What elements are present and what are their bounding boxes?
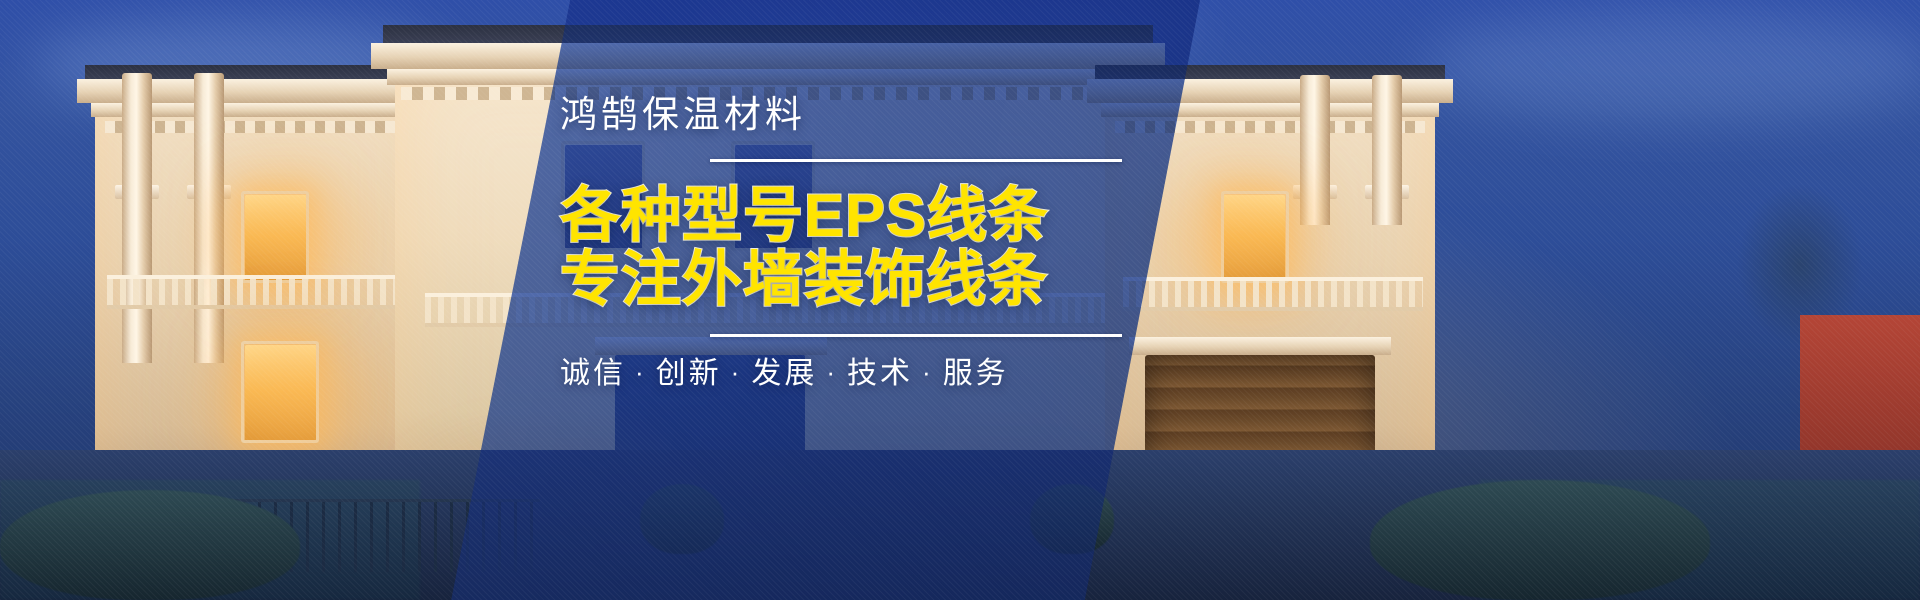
divider-top: [710, 159, 1122, 162]
headline-line-1: 各种型号EPS线条: [560, 184, 1030, 248]
column: [1300, 75, 1330, 225]
divider-bottom: [710, 334, 1122, 337]
tagline-separator: ·: [635, 357, 647, 387]
tagline-item: 诚信: [560, 357, 626, 390]
tagline-item: 技术: [847, 357, 913, 390]
banner-subtitle: 鸿鹄保温材料: [560, 96, 1030, 133]
shrub: [1370, 480, 1710, 600]
tagline-separator: ·: [826, 357, 838, 387]
tagline-item: 创新: [656, 357, 722, 390]
banner-headline: 各种型号EPS线条 专注外墙装饰线条: [560, 184, 1030, 312]
banner-stage: 鸿鹄保温材料 各种型号EPS线条 专注外墙装饰线条 诚信·创新·发展·技术·服务: [0, 0, 1920, 600]
balustrade: [1123, 277, 1423, 311]
banner-copy: 鸿鹄保温材料 各种型号EPS线条 专注外墙装饰线条 诚信·创新·发展·技术·服务: [560, 96, 1030, 389]
banner-tagline: 诚信·创新·发展·技术·服务: [560, 359, 1030, 389]
tagline-separator: ·: [731, 357, 743, 387]
tagline-separator: ·: [922, 357, 934, 387]
balustrade: [107, 275, 407, 309]
garage-lintel: [1129, 337, 1391, 355]
column: [1372, 75, 1402, 225]
shrub: [0, 490, 300, 600]
cloud: [1420, 10, 1920, 120]
headline-line-2: 专注外墙装饰线条: [560, 248, 1030, 312]
column: [122, 73, 152, 363]
tagline-item: 发展: [751, 357, 817, 390]
tagline-item: 服务: [943, 357, 1009, 390]
